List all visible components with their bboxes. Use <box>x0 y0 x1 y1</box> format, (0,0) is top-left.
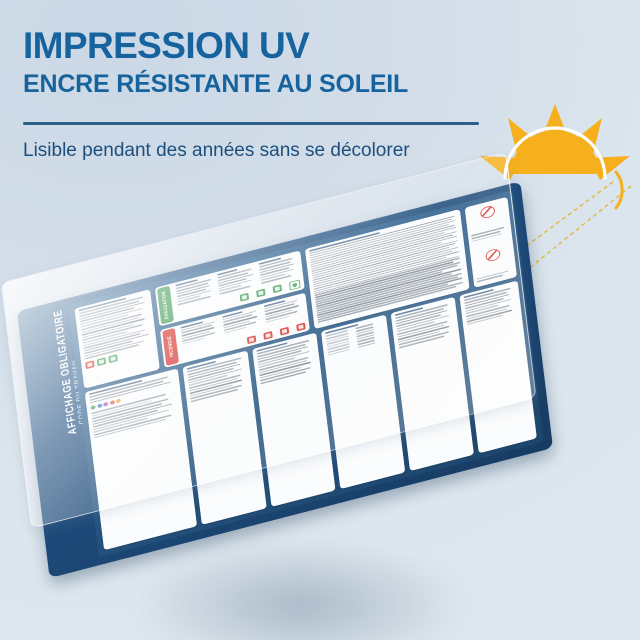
panel-tab-label: INCENDIE <box>166 336 174 358</box>
promo-banner: IMPRESSION UV ENCRE RÉSISTANTE AU SOLEIL… <box>0 0 640 640</box>
page-subtitle: ENCRE RÉSISTANTE AU SOLEIL <box>23 70 408 98</box>
panel-card[interactable] <box>183 350 267 524</box>
exit-green-icon <box>272 284 282 293</box>
tagline: Lisible pendant des années sans se décol… <box>23 138 410 164</box>
header-divider <box>23 122 479 125</box>
table-columns <box>326 321 401 486</box>
panel-body <box>321 315 405 489</box>
panel-body <box>74 289 159 389</box>
assembly-point-icon <box>289 279 301 290</box>
no-smoking-icon <box>485 248 501 263</box>
exit-green-icon <box>108 354 118 363</box>
panel-card[interactable] <box>459 281 536 454</box>
panel-table[interactable] <box>321 315 405 489</box>
panel-body <box>183 350 267 524</box>
panel-body <box>459 281 536 454</box>
exit-green-icon <box>256 288 266 297</box>
panel-body <box>252 333 336 507</box>
exit-green-icon <box>97 357 107 366</box>
fire-hose-icon <box>263 331 273 340</box>
panel-card[interactable] <box>252 333 336 507</box>
panel-tab-label: EVACUATION <box>161 290 170 319</box>
page-title: IMPRESSION UV <box>23 26 309 66</box>
poster-scene: AFFICHAGE OBLIGATOIRE CODE DU TRAVAIL <box>0 215 640 640</box>
fire-phone-icon <box>296 322 306 331</box>
panel-body <box>465 197 517 288</box>
panel-prohibitions[interactable] <box>465 197 517 288</box>
no-smoking-icon <box>479 205 495 220</box>
panel-body <box>85 368 197 550</box>
panel-card[interactable] <box>390 297 474 471</box>
poster-content: EVACUATION <box>68 190 543 557</box>
exit-green-icon <box>240 292 250 301</box>
panel-card[interactable] <box>74 289 159 389</box>
fire-extinguisher-icon <box>247 335 257 344</box>
fire-extinguisher-icon <box>85 360 95 369</box>
fire-alarm-icon <box>280 327 290 336</box>
panel-card[interactable] <box>85 368 197 550</box>
panel-body <box>390 297 474 471</box>
